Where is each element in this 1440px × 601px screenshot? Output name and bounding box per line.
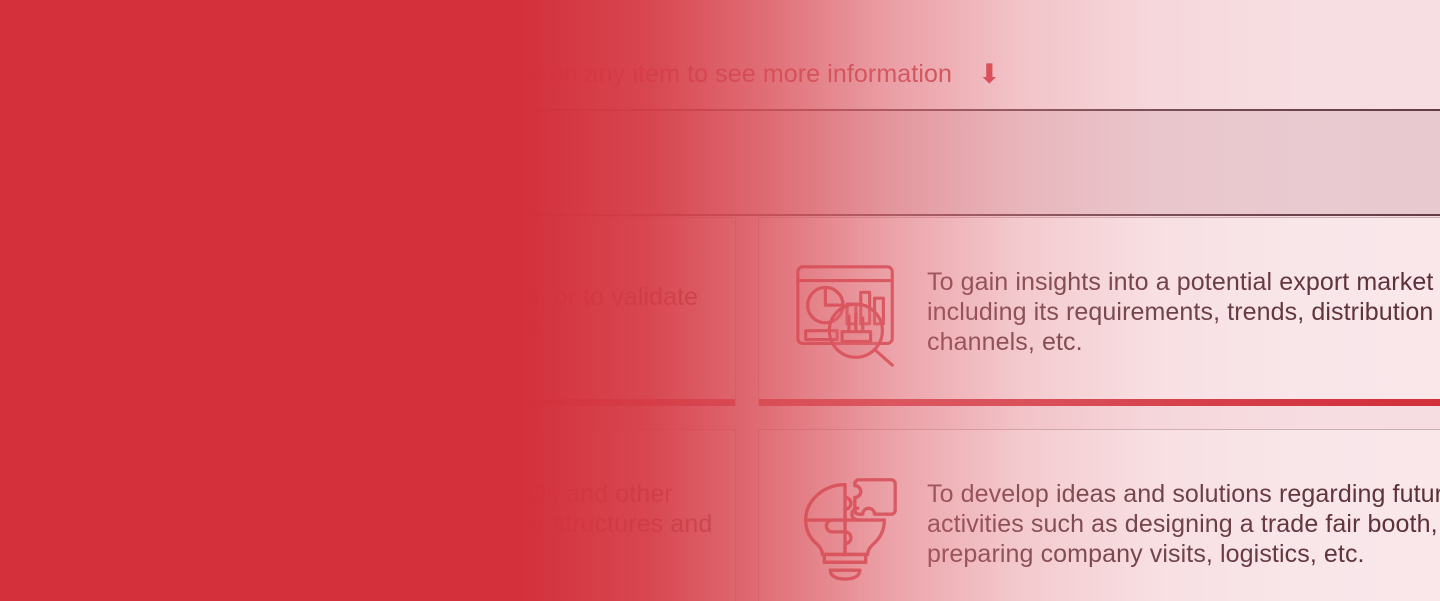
lightbulb-book-icon — [39, 246, 171, 378]
arrow-down-icon-right: ⬇ — [978, 61, 1001, 88]
user-avatar-icon[interactable] — [0, 0, 46, 28]
hamburger-line-2 — [56, 13, 92, 17]
header-left-icons — [0, 0, 108, 28]
network-people-icon — [39, 458, 171, 590]
page-content: ⬇ Click on any item to see more informat… — [0, 0, 1440, 601]
item-card-text: To network, meeting (local) BSOs and oth… — [185, 479, 721, 569]
hamburger-line-1 — [56, 0, 108, 2]
section-band — [0, 111, 1440, 214]
app-root: ⬇ Click on any item to see more informat… — [0, 0, 1440, 601]
click-hint: ⬇ Click on any item to see more informat… — [0, 60, 1440, 89]
item-card[interactable]: To network, meeting (local) BSOs and oth… — [16, 429, 736, 601]
arrow-down-icon-left: ⬇ — [439, 61, 462, 88]
divider-mid — [0, 214, 1440, 216]
chart-magnifier-icon — [781, 246, 913, 378]
item-card-text: To gain insights into a potential export… — [927, 267, 1440, 357]
item-card[interactable]: To develop ideas and solutions regarding… — [758, 429, 1440, 601]
item-card[interactable]: To deepen their own knowledge, or to val… — [16, 217, 736, 406]
puzzle-lightbulb-icon — [781, 458, 913, 590]
item-card-text: To deepen their own knowledge, or to val… — [185, 282, 721, 342]
section-title: BSO staff — [10, 131, 144, 167]
item-card-text: To develop ideas and solutions regarding… — [927, 479, 1440, 569]
item-card[interactable]: To gain insights into a potential export… — [758, 217, 1440, 406]
hamburger-menu-icon[interactable] — [56, 0, 108, 20]
click-hint-label: Click on any item to see more informatio… — [488, 60, 952, 89]
app-header-bar: ⬇ Click on any item to see more informat… — [0, 0, 1440, 110]
card-grid: To deepen their own knowledge, or to val… — [16, 217, 1440, 601]
